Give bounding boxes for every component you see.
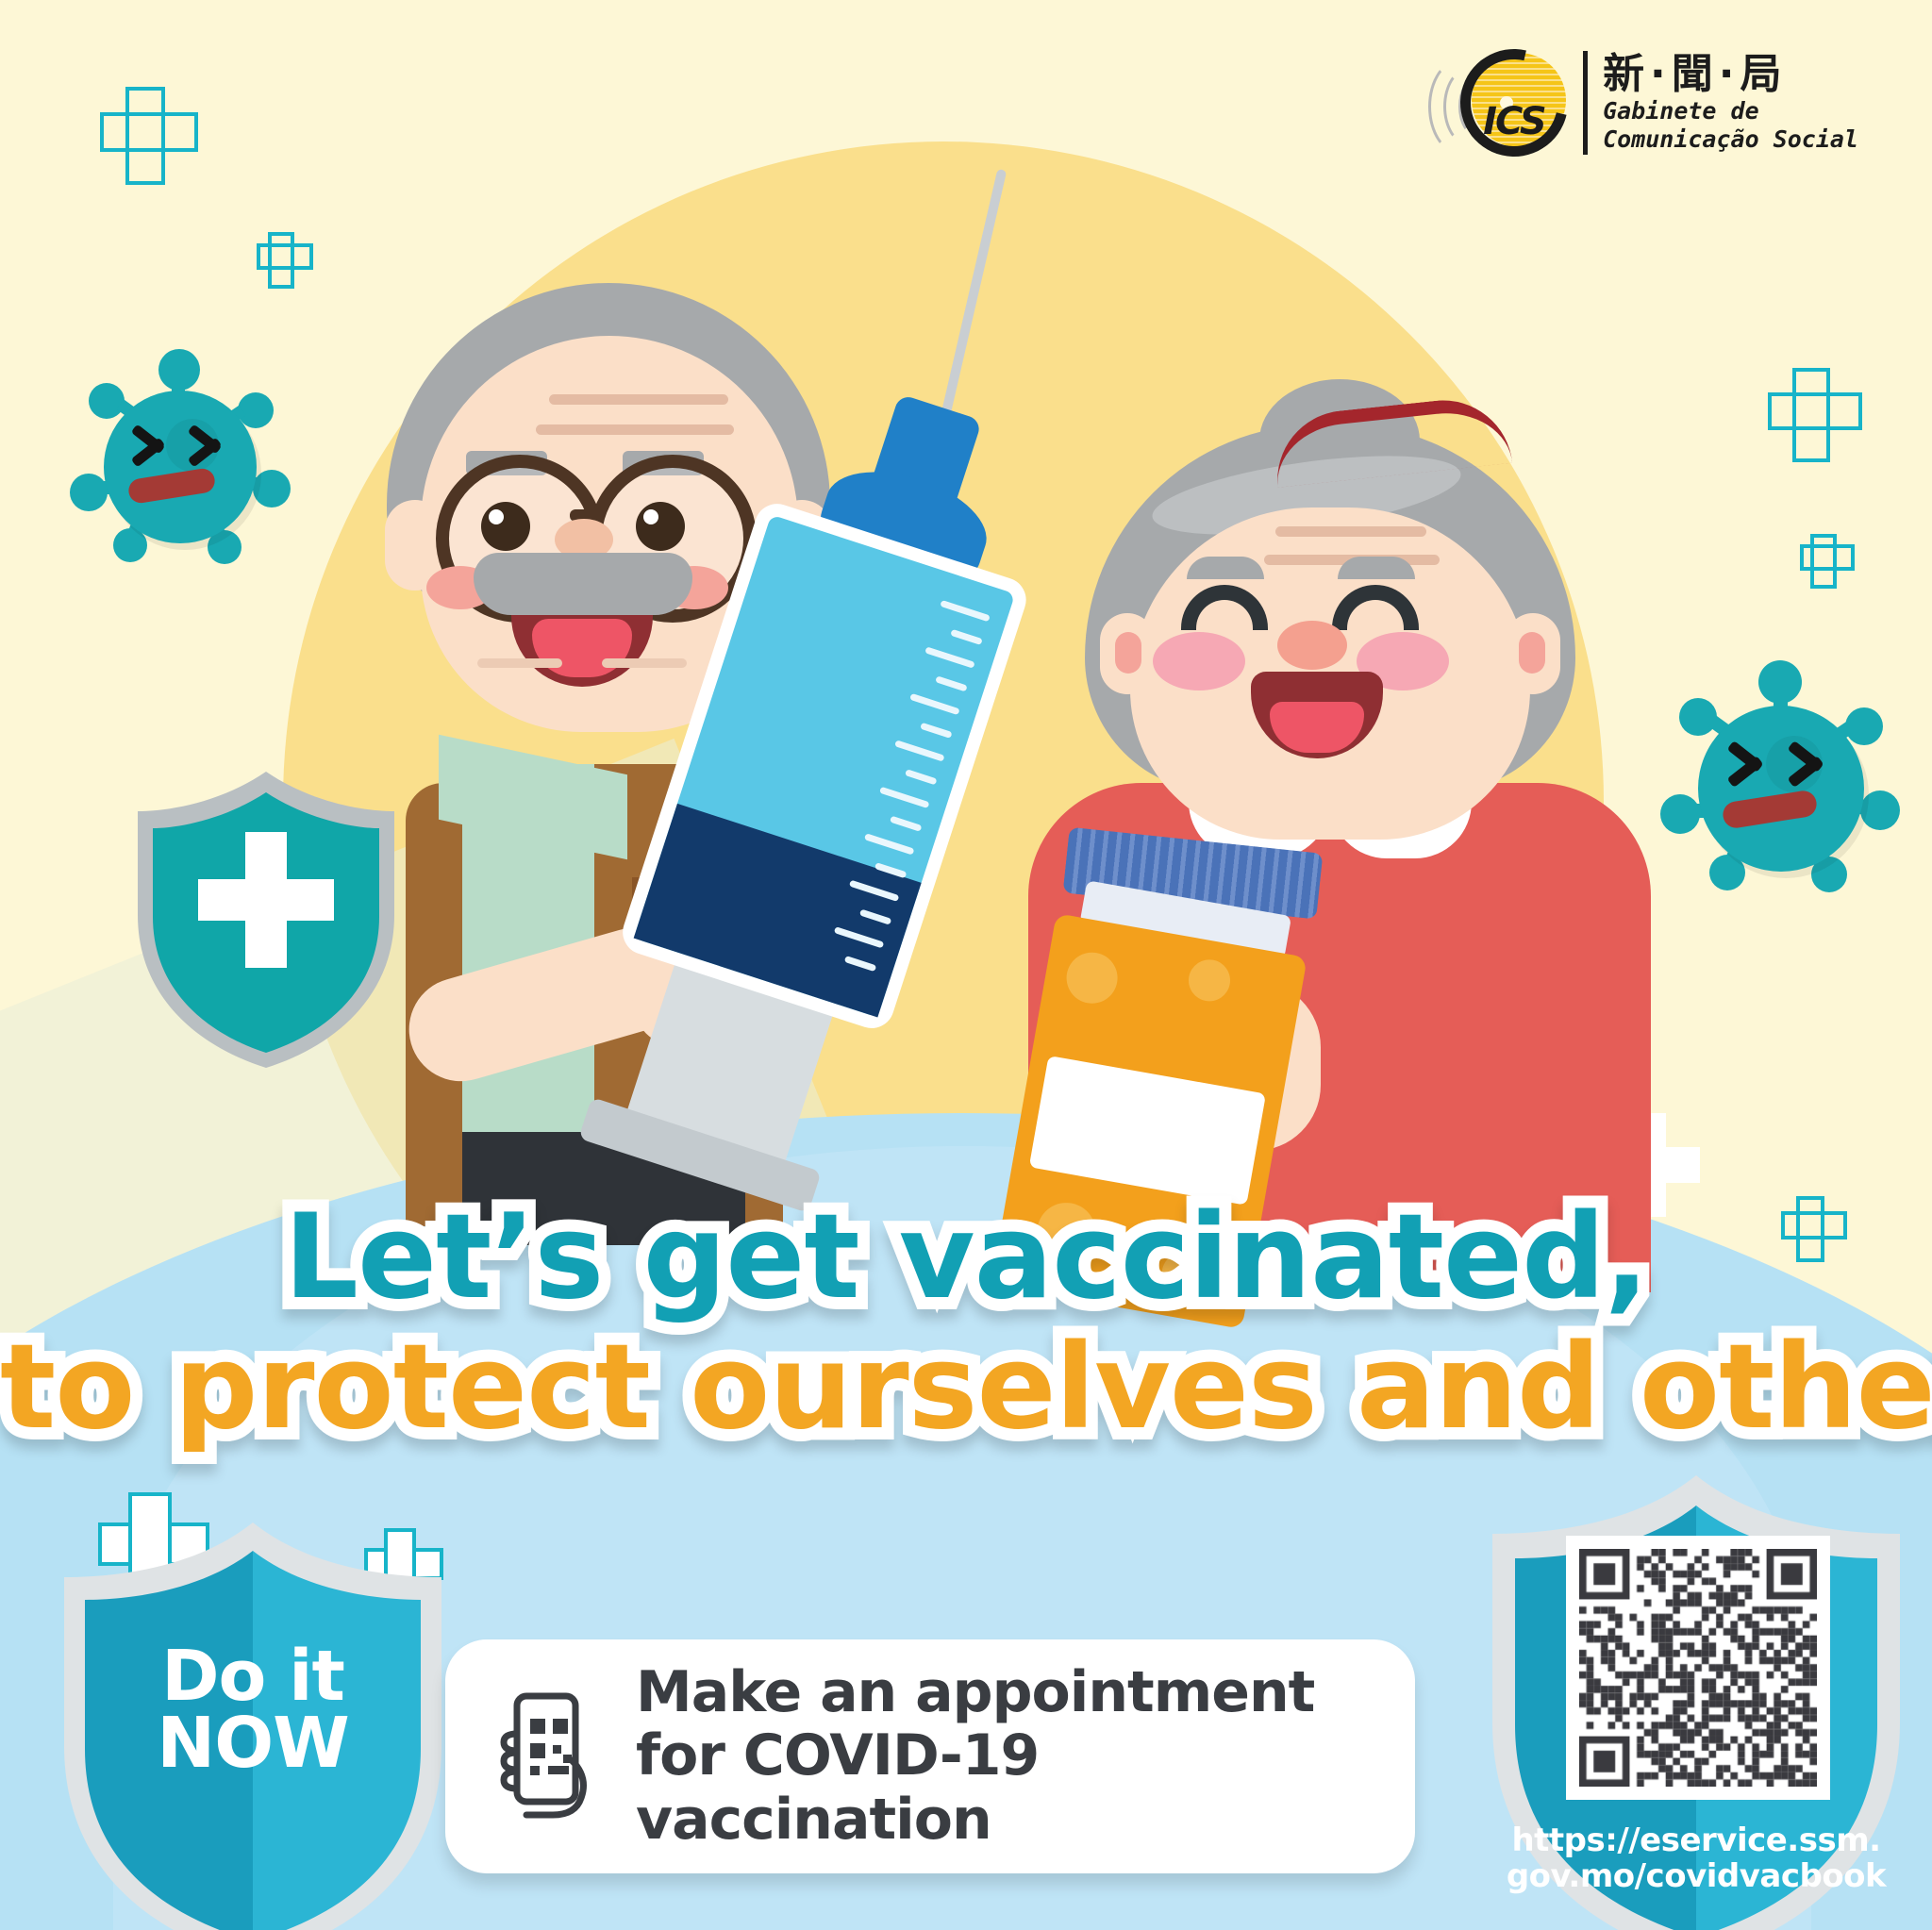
grandma-ear-inner-left [1115, 632, 1141, 674]
do-it-now-shield: Do it NOW [26, 1519, 479, 1930]
bottle-bubble [1186, 957, 1234, 1005]
appointment-card[interactable]: Make an appointment for COVID-19 vaccina… [445, 1639, 1415, 1873]
grandpa-eye-left [481, 502, 530, 551]
logo-divider [1583, 51, 1588, 155]
grandma-forehead-line [1275, 526, 1426, 537]
appointment-line-1: Make an appointment [636, 1661, 1372, 1724]
grandpa-chin-line [477, 658, 562, 668]
bottle-label [1029, 1056, 1266, 1206]
grandpa-forehead-line [549, 394, 728, 405]
bottle-bubble [1062, 948, 1122, 1007]
qr-code-canvas[interactable] [1579, 1549, 1817, 1787]
hand-holding-phone-qr-icon [489, 1690, 602, 1822]
do-it-now-line-1: Do it [26, 1643, 479, 1710]
qr-shield: https://eservice.ssm. gov.mo/covidvacboo… [1451, 1472, 1932, 1930]
grandpa-tongue [532, 619, 632, 677]
headline-line-2: to protect ourselves and others [0, 1328, 1932, 1447]
grandma-tongue [1270, 702, 1364, 753]
appointment-text: Make an appointment for COVID-19 vaccina… [636, 1661, 1372, 1852]
headline-line-1: Let’s get vaccinated, [0, 1198, 1932, 1317]
syringe-measure-ticks [784, 587, 991, 974]
grandma-eyebrow-left [1187, 557, 1264, 579]
booking-url-line-1: https://eservice.ssm. [1451, 1822, 1932, 1858]
booking-url-line-2: gov.mo/covidvacbook [1451, 1858, 1932, 1894]
qr-code[interactable] [1566, 1536, 1830, 1800]
grandma-eyebrow-right [1338, 557, 1415, 579]
decorative-cross-icon [1800, 534, 1847, 581]
decorative-cross-icon [257, 232, 306, 281]
logo-chinese-name: 新·聞·局 [1603, 53, 1858, 96]
protection-shield-icon [125, 764, 408, 1075]
decorative-cross-icon [100, 87, 191, 177]
grandma-nose [1277, 621, 1347, 670]
do-it-now-text: Do it NOW [26, 1643, 479, 1777]
logo-ics-text: ICS [1483, 100, 1545, 143]
syringe-needle [934, 169, 1007, 447]
covid-virus-right [1668, 660, 1894, 887]
grandma-head [1085, 396, 1575, 840]
do-it-now-line-2: NOW [26, 1710, 479, 1777]
decorative-cross-icon [1768, 368, 1855, 455]
logo-portuguese-line1: Gabinete de [1603, 98, 1858, 125]
logo-portuguese-line2: Comunicação Social [1603, 126, 1858, 153]
vaccination-poster: ICS 新·聞·局 Gabinete de Comunicação Social [0, 0, 1932, 1930]
grandma-ear-inner-right [1519, 632, 1545, 674]
appointment-line-2: for COVID-19 vaccination [636, 1724, 1372, 1851]
grandma-cheek-left [1153, 632, 1245, 690]
gcs-logo: ICS 新·聞·局 Gabinete de Comunicação Social [1445, 42, 1858, 164]
booking-url[interactable]: https://eservice.ssm. gov.mo/covidvacboo… [1451, 1822, 1932, 1894]
syringe-barrel [617, 498, 1032, 1034]
headline: Let’s get vaccinated, to protect ourselv… [0, 1198, 1932, 1448]
covid-virus-left [75, 349, 283, 557]
logo-text-block: 新·聞·局 Gabinete de Comunicação Social [1603, 53, 1858, 153]
gcs-logo-mark: ICS [1445, 42, 1568, 164]
